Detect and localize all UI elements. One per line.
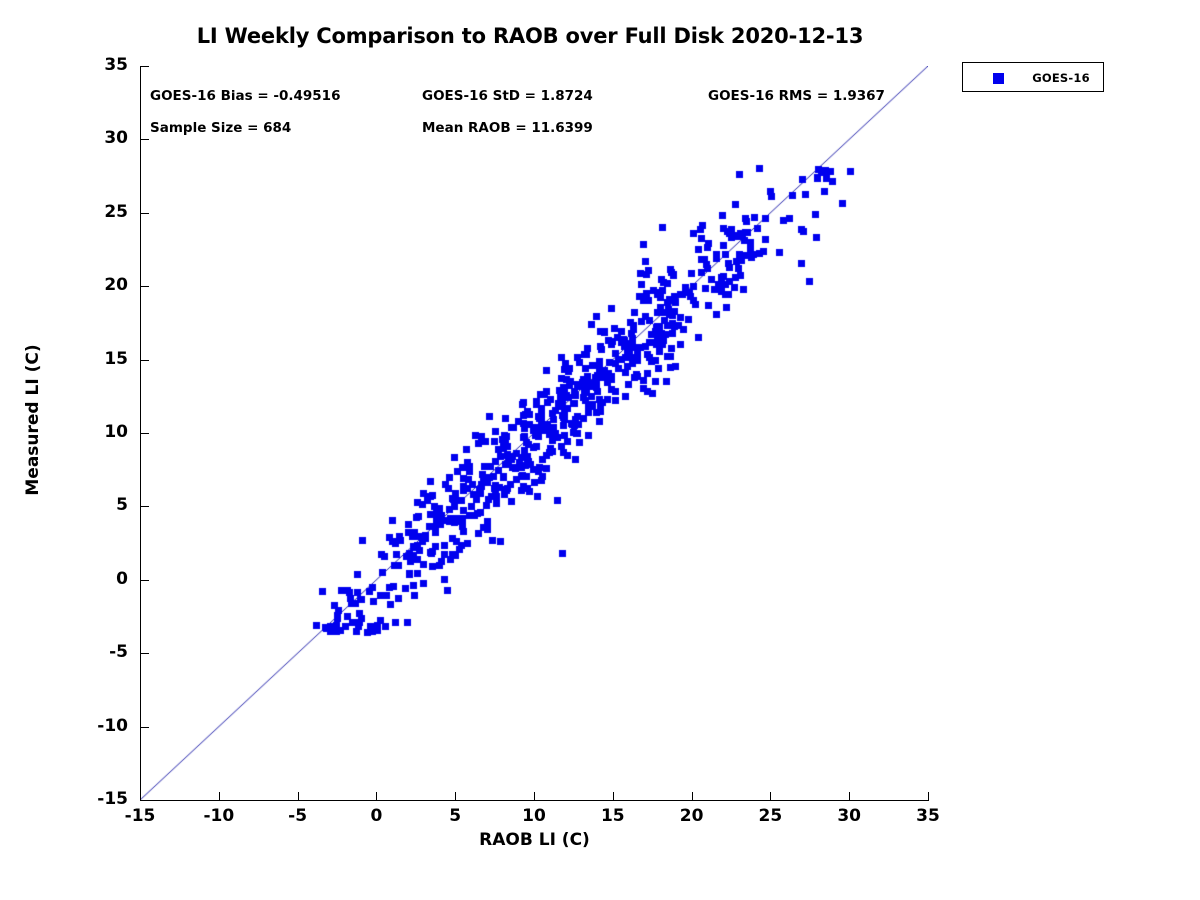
y-tick-label-0: 0	[48, 569, 128, 589]
y-tick-0	[141, 580, 149, 581]
stat-sample-size: Sample Size = 684	[150, 120, 291, 136]
scatter-plot-canvas	[140, 66, 928, 800]
x-tick-10	[534, 792, 535, 800]
y-tick--10	[141, 727, 149, 728]
x-tick-label-25: 25	[730, 806, 810, 826]
x-tick-label--15: -15	[100, 806, 180, 826]
legend-marker-goes-16	[993, 73, 1004, 84]
legend: GOES-16	[962, 62, 1104, 92]
y-tick-label--10: -10	[48, 716, 128, 736]
y-tick-label-25: 25	[48, 202, 128, 222]
y-tick-30	[141, 139, 149, 140]
chart-figure: LI Weekly Comparison to RAOB over Full D…	[0, 0, 1200, 900]
y-tick--5	[141, 653, 149, 654]
y-tick-35	[141, 66, 149, 67]
y-tick-20	[141, 286, 149, 287]
y-tick-5	[141, 506, 149, 507]
x-tick-0	[376, 792, 377, 800]
x-tick-30	[849, 792, 850, 800]
x-tick--15	[140, 792, 141, 800]
x-axis-label: RAOB LI (C)	[140, 830, 929, 850]
x-tick-35	[928, 792, 929, 800]
y-tick-10	[141, 433, 149, 434]
x-tick--10	[219, 792, 220, 800]
y-tick-label-30: 30	[48, 128, 128, 148]
x-tick--5	[298, 792, 299, 800]
y-tick--15	[141, 800, 149, 801]
x-tick-5	[455, 792, 456, 800]
y-tick-label-35: 35	[48, 55, 128, 75]
chart-title: LI Weekly Comparison to RAOB over Full D…	[0, 24, 1060, 48]
x-tick-20	[692, 792, 693, 800]
y-tick-label-20: 20	[48, 275, 128, 295]
stat-bias: GOES-16 Bias = -0.49516	[150, 88, 340, 104]
x-tick-15	[613, 792, 614, 800]
x-tick-label-30: 30	[809, 806, 889, 826]
stat-rms: GOES-16 RMS = 1.9367	[708, 88, 885, 104]
plot-area	[140, 66, 928, 800]
x-axis-spine	[140, 800, 929, 801]
y-tick-15	[141, 360, 149, 361]
x-tick-label--5: -5	[258, 806, 338, 826]
x-tick-label--10: -10	[179, 806, 259, 826]
x-tick-label-10: 10	[494, 806, 574, 826]
x-tick-25	[770, 792, 771, 800]
y-axis-label: Measured LI (C)	[23, 295, 43, 545]
stat-mean-raob: Mean RAOB = 11.6399	[422, 120, 593, 136]
x-tick-label-5: 5	[415, 806, 495, 826]
x-tick-label-20: 20	[652, 806, 732, 826]
legend-label-goes-16: GOES-16	[1023, 71, 1099, 85]
y-tick-label-5: 5	[48, 495, 128, 515]
x-tick-label-15: 15	[573, 806, 653, 826]
y-tick-label-10: 10	[48, 422, 128, 442]
y-tick-25	[141, 213, 149, 214]
stat-std: GOES-16 StD = 1.8724	[422, 88, 593, 104]
x-tick-label-35: 35	[888, 806, 968, 826]
y-tick-label--5: -5	[48, 642, 128, 662]
y-tick-label--15: -15	[48, 789, 128, 809]
y-tick-label-15: 15	[48, 349, 128, 369]
x-tick-label-0: 0	[336, 806, 416, 826]
